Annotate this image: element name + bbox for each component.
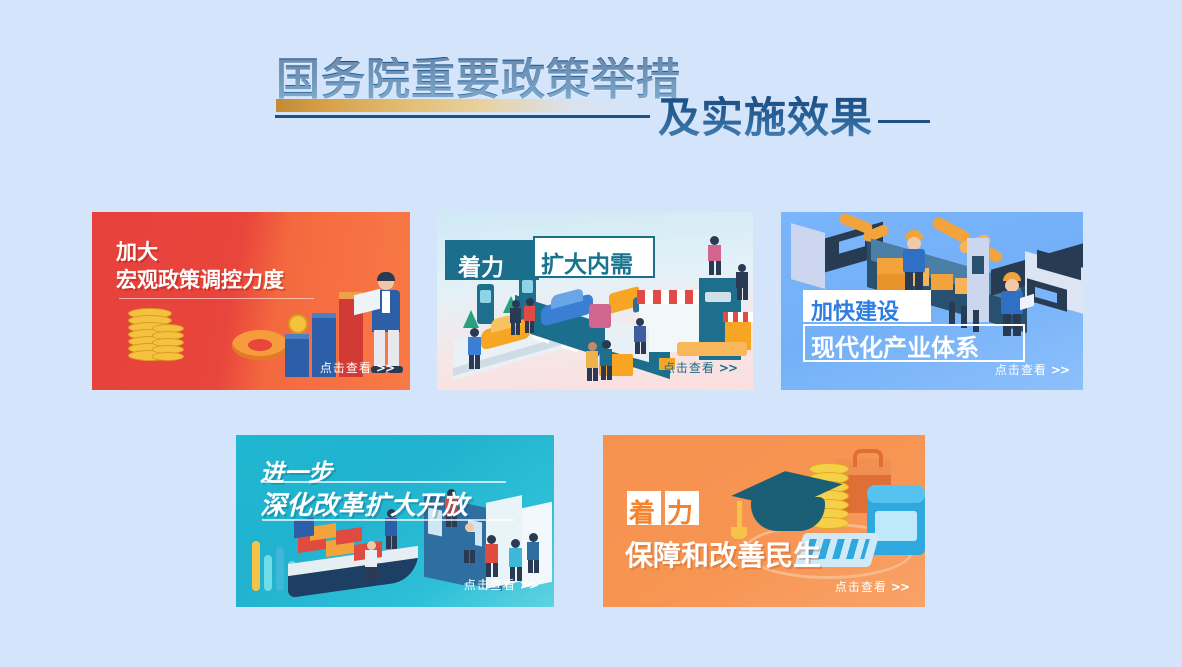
- title-gold-accent-bar: [276, 99, 656, 112]
- cta-arrows-icon: >>: [719, 361, 737, 375]
- pedestrian: [599, 340, 613, 380]
- small-stall-awning: [723, 312, 753, 322]
- pedestrian: [585, 342, 599, 380]
- bar-chart-bar-1-top: [285, 334, 309, 339]
- card-industrial-system-title-2: 现代化产业体系: [811, 328, 979, 363]
- card-macro-policy-divider: [119, 298, 314, 299]
- card-livelihood-cta[interactable]: 点击查看>>: [835, 578, 909, 595]
- hanging-tool: [949, 302, 955, 324]
- briefcase-handle: [853, 449, 883, 467]
- cta-label: 点击查看: [464, 578, 516, 592]
- pillar-panel: [972, 256, 984, 274]
- cta-label: 点击查看: [320, 361, 372, 375]
- visitor: [364, 541, 378, 579]
- charging-post-screen: [522, 280, 533, 293]
- page-title-line-1: 国务院重要政策举措: [276, 57, 681, 103]
- pedestrian: [735, 264, 749, 300]
- card-livelihood-title-1a: 着: [629, 493, 655, 530]
- card-livelihood-title-2: 保障和改善民生: [625, 534, 821, 574]
- chart-bar: [264, 555, 272, 591]
- shop-awning-stripes: [637, 290, 705, 304]
- card-macro-policy[interactable]: 加大 宏观政策调控力度 点击查看>>: [92, 212, 410, 390]
- visitor: [484, 535, 499, 577]
- shipping-container: [336, 527, 362, 545]
- charging-post-screen: [480, 290, 491, 303]
- cta-arrows-icon: >>: [520, 578, 538, 592]
- conveyor-goods: [677, 342, 747, 356]
- visitor: [526, 533, 540, 573]
- machine-housing-left: [791, 223, 825, 289]
- cta-label: 点击查看: [995, 363, 1047, 377]
- chart-bar: [252, 541, 260, 591]
- visitor: [508, 539, 523, 581]
- pedestrian: [509, 300, 522, 334]
- card-reform-opening-title-2: 深化改革扩大开放: [260, 485, 468, 522]
- cargo-box: [931, 274, 953, 290]
- card-macro-policy-cta[interactable]: 点击查看>>: [320, 359, 394, 376]
- medicine-bottle-label: [875, 511, 917, 541]
- visitor: [462, 523, 476, 563]
- card-domestic-demand[interactable]: 着力 扩大内需 点击查看>>: [437, 212, 753, 390]
- card-reform-opening-cta[interactable]: 点击查看>>: [464, 576, 538, 593]
- pedestrian: [633, 318, 647, 354]
- cta-arrows-icon: >>: [891, 580, 909, 594]
- card-industrial-system[interactable]: 加快建设 现代化产业体系 点击查看>>: [781, 212, 1083, 390]
- card-livelihood-title-1b: 力: [667, 493, 693, 530]
- page-title-line-2: 及实施效果: [658, 96, 873, 140]
- factory-worker: [901, 230, 927, 294]
- torus-shape: [232, 330, 288, 360]
- pedestrian: [467, 328, 481, 368]
- page-header: 国务院重要政策举措 及实施效果: [0, 0, 1182, 180]
- card-livelihood[interactable]: 着 力 保障和改善民生 点击查看>>: [603, 435, 925, 607]
- card-reform-opening-divider-2: [262, 519, 514, 521]
- cta-label: 点击查看: [835, 580, 887, 594]
- medicine-bottle-cap: [867, 485, 925, 503]
- card-domestic-demand-title-2: 扩大内需: [541, 245, 633, 279]
- card-reform-opening-divider-1: [262, 481, 506, 483]
- bar-chart-bar-2-top: [312, 313, 336, 318]
- title-rule-short: [878, 120, 930, 123]
- card-macro-policy-title-1: 加大: [116, 238, 158, 266]
- shop-sign: [705, 292, 731, 302]
- card-reform-opening[interactable]: 进一步 深化改革扩大开放 点击查看>>: [236, 435, 554, 607]
- title-rule-long: [275, 115, 650, 118]
- pedestrian: [523, 298, 536, 332]
- tree: [463, 310, 479, 328]
- card-domestic-demand-title-1: 着力: [458, 248, 504, 282]
- card-macro-policy-title-2: 宏观政策调控力度: [116, 266, 284, 294]
- cta-label: 点击查看: [663, 361, 715, 375]
- cta-arrows-icon: >>: [1051, 363, 1069, 377]
- bar-chart-bar-1: [285, 337, 309, 377]
- single-coin: [288, 314, 308, 334]
- cta-arrows-icon: >>: [376, 361, 394, 375]
- suitcase-pink: [589, 304, 611, 328]
- card-industrial-system-cta[interactable]: 点击查看>>: [995, 361, 1069, 378]
- card-industrial-system-title-1: 加快建设: [811, 294, 899, 326]
- chart-bar: [276, 547, 284, 591]
- card-domestic-demand-cta[interactable]: 点击查看>>: [663, 359, 737, 376]
- pedestrian: [707, 236, 723, 276]
